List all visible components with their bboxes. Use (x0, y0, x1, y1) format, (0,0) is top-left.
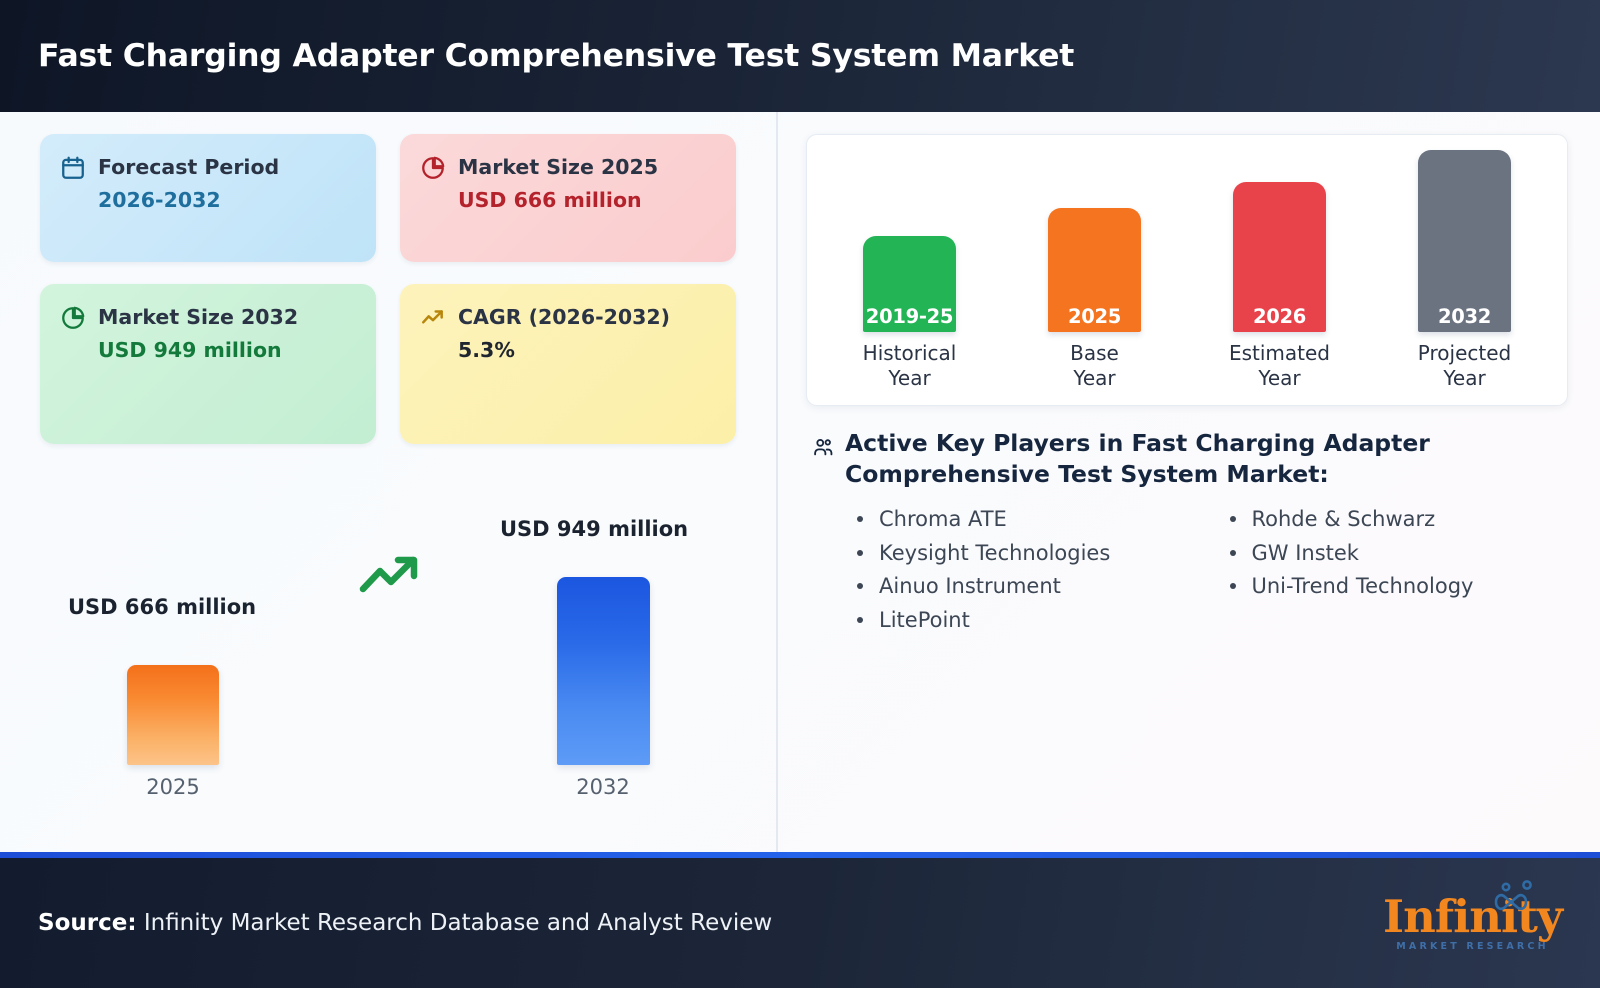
card-head-row: Market Size 2032 (60, 304, 354, 335)
stat-card-value: USD 666 million (420, 187, 714, 214)
timeline-bar-projected: 2032 (1418, 150, 1511, 332)
stat-card-cagr: CAGR (2026-2032) 5.3% (400, 284, 736, 444)
stat-card-value: 2026-2032 (60, 187, 354, 214)
infinity-logo: Infinity MARKET RESEARCH (1383, 894, 1562, 952)
page-footer: Source: Infinity Market Research Databas… (0, 858, 1600, 988)
stat-card-label: CAGR (2026-2032) (458, 304, 670, 331)
timeline-caption-line2: Year (1229, 366, 1330, 391)
stat-card-value: USD 949 million (60, 337, 354, 364)
stat-card-label: Market Size 2025 (458, 154, 658, 181)
key-players-column-left: Chroma ATE Keysight Technologies Ainuo I… (845, 503, 1196, 637)
list-item: Uni-Trend Technology (1218, 570, 1569, 604)
stat-cards-grid: Forecast Period 2026-2032 Market Size (40, 134, 736, 444)
timeline-column-historical: 2019-25 Historical Year (835, 236, 985, 405)
stat-card-forecast-period: Forecast Period 2026-2032 (40, 134, 376, 262)
timeline-bar-base: 2025 (1048, 208, 1141, 332)
timeline-bar-historical: 2019-25 (863, 236, 956, 332)
card-head-row: CAGR (2026-2032) (420, 304, 714, 335)
page-header: Fast Charging Adapter Comprehensive Test… (0, 0, 1600, 112)
bar-category-label-2025: 2025 (113, 775, 233, 799)
key-players-section: Active Key Players in Fast Charging Adap… (806, 428, 1568, 637)
list-item: GW Instek (1218, 537, 1569, 571)
timeline-caption-projected: Projected Year (1418, 341, 1511, 391)
stat-card-label: Forecast Period (98, 154, 279, 181)
timeline-bar-year: 2025 (1068, 305, 1121, 328)
timeline-caption-historical: Historical Year (863, 341, 957, 391)
source-value: Infinity Market Research Database and An… (144, 910, 772, 936)
market-size-comparison-chart: USD 666 million USD 949 million 2025 203… (40, 497, 740, 787)
stat-card-value: 5.3% (420, 337, 714, 364)
timeline-caption-estimated: Estimated Year (1229, 341, 1330, 391)
timeline-bar-year: 2019-25 (866, 305, 953, 328)
stat-card-market-size-2025: Market Size 2025 USD 666 million (400, 134, 736, 262)
timeline-bar-year: 2032 (1438, 305, 1491, 328)
timeline-caption-line1: Estimated (1229, 341, 1330, 366)
list-item: Chroma ATE (845, 503, 1196, 537)
study-timeline-chart: 2019-25 Historical Year 2025 Base Year (806, 134, 1568, 406)
key-players-title: Active Key Players in Fast Charging Adap… (845, 428, 1568, 490)
timeline-column-projected: 2032 Projected Year (1390, 150, 1540, 405)
pie-chart-icon (420, 155, 446, 185)
list-item: LitePoint (845, 604, 1196, 638)
card-head-row: Forecast Period (60, 154, 354, 185)
bar-2032 (557, 577, 650, 765)
left-panel: Forecast Period 2026-2032 Market Size (0, 112, 778, 852)
timeline-bar-year: 2026 (1253, 305, 1306, 328)
page-title: Fast Charging Adapter Comprehensive Test… (38, 39, 1074, 74)
timeline-caption-line2: Year (1418, 366, 1511, 391)
users-icon (812, 436, 834, 637)
content-area: Forecast Period 2026-2032 Market Size (0, 112, 1600, 852)
bar-category-label-2032: 2032 (543, 775, 663, 799)
stat-card-label: Market Size 2032 (98, 304, 298, 331)
logo-tagline: MARKET RESEARCH (1396, 941, 1549, 952)
calendar-icon (60, 155, 86, 185)
trending-up-arrow-icon (358, 549, 422, 601)
list-item: Ainuo Instrument (845, 570, 1196, 604)
timeline-column-estimated: 2026 Estimated Year (1205, 182, 1355, 405)
timeline-caption-line2: Year (863, 366, 957, 391)
pie-chart-icon (60, 305, 86, 335)
timeline-caption-line2: Year (1070, 366, 1119, 391)
bar-value-label-2025: USD 666 million (68, 595, 256, 619)
timeline-caption-base: Base Year (1070, 341, 1119, 391)
source-text: Source: Infinity Market Research Databas… (38, 910, 772, 936)
right-panel: 2019-25 Historical Year 2025 Base Year (778, 112, 1600, 852)
timeline-bar-estimated: 2026 (1233, 182, 1326, 332)
key-players-column-right: Rohde & Schwarz GW Instek Uni-Trend Tech… (1218, 503, 1569, 637)
infinity-symbol-icon (1482, 878, 1554, 922)
stat-card-market-size-2032: Market Size 2032 USD 949 million (40, 284, 376, 444)
trending-up-icon (420, 305, 446, 335)
key-players-columns: Chroma ATE Keysight Technologies Ainuo I… (845, 503, 1568, 637)
card-head-row: Market Size 2025 (420, 154, 714, 185)
timeline-caption-line1: Historical (863, 341, 957, 366)
bar-value-label-2032: USD 949 million (500, 517, 688, 541)
list-item: Keysight Technologies (845, 537, 1196, 571)
source-label: Source: (38, 910, 137, 936)
timeline-column-base: 2025 Base Year (1020, 208, 1170, 405)
timeline-caption-line1: Base (1070, 341, 1119, 366)
bar-2025 (127, 665, 219, 765)
timeline-caption-line1: Projected (1418, 341, 1511, 366)
infographic-page: Fast Charging Adapter Comprehensive Test… (0, 0, 1600, 988)
list-item: Rohde & Schwarz (1218, 503, 1569, 537)
